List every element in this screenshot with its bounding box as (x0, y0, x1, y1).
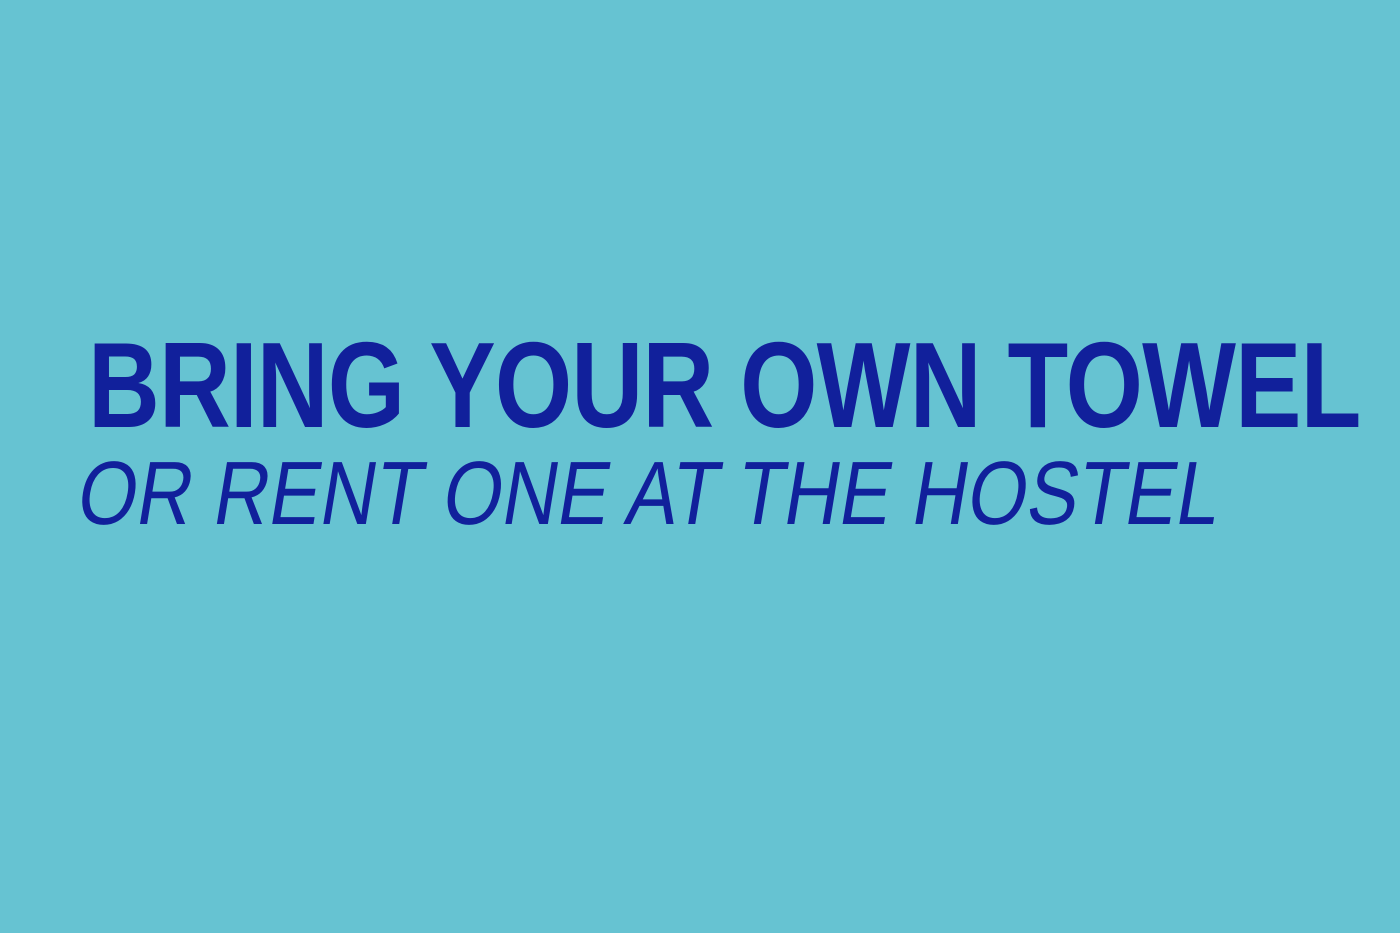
subtitle-text: OR RENT ONE AT THE HOSTEL (71, 440, 1152, 542)
slide-canvas: BRING YOUR OWN TOWEL OR RENT ONE AT THE … (0, 0, 1400, 933)
text-block: BRING YOUR OWN TOWEL OR RENT ONE AT THE … (88, 330, 1348, 542)
headline-text: BRING YOUR OWN TOWEL (88, 330, 1115, 440)
